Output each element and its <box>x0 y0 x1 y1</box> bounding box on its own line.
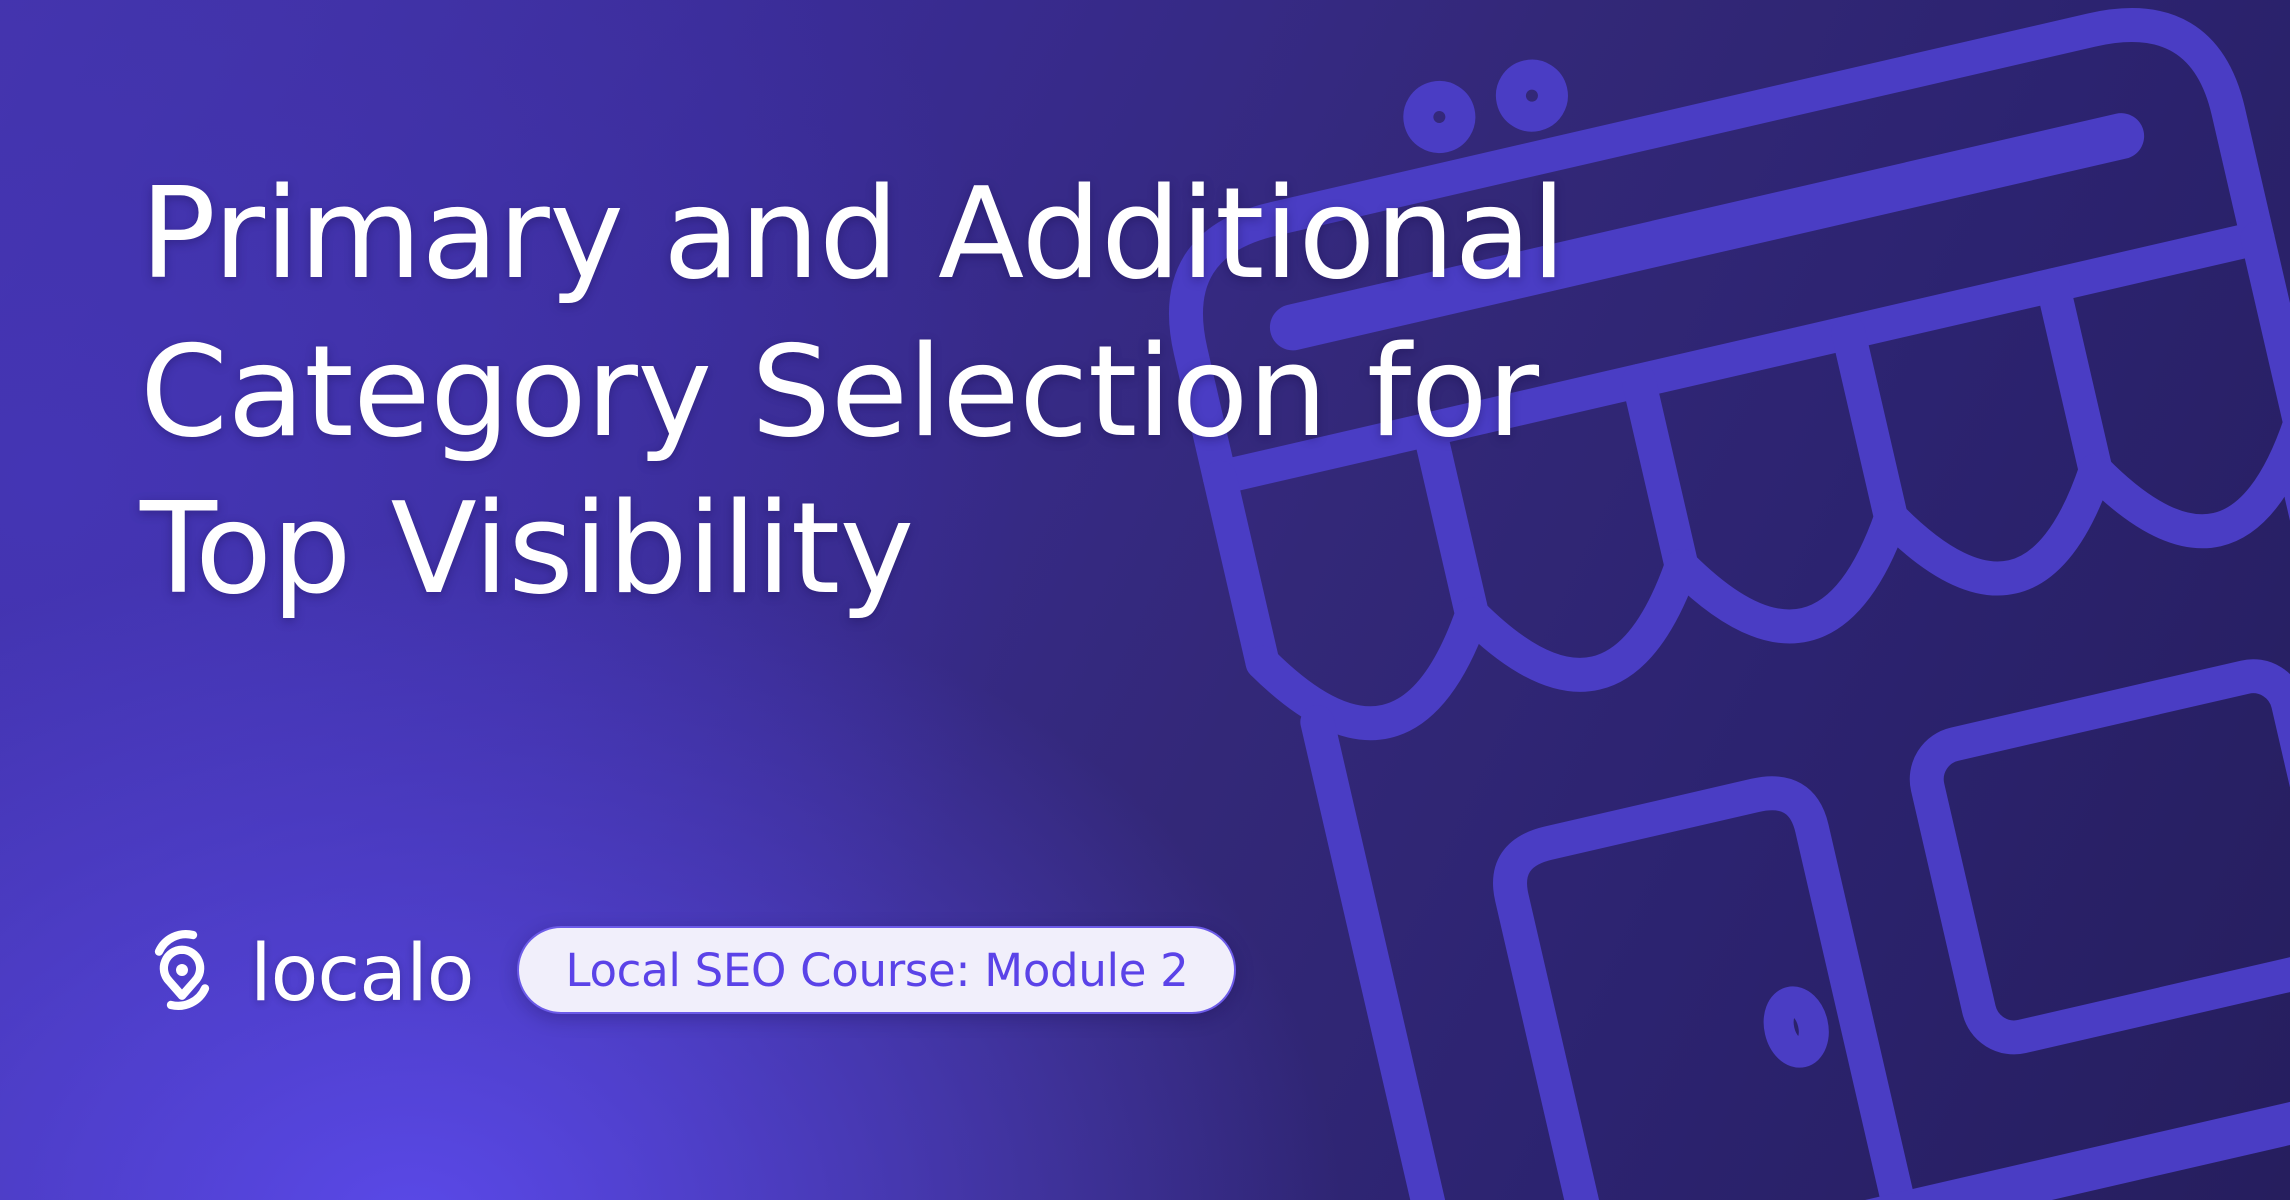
page-title: Primary and Additional Category Selectio… <box>140 155 1700 628</box>
title-line-1: Primary and Additional <box>140 155 1700 313</box>
brand-name: localo <box>250 935 473 1013</box>
title-line-2: Category Selection for <box>140 313 1700 471</box>
course-banner: Primary and Additional Category Selectio… <box>0 0 2290 1200</box>
location-pin-swirl-icon <box>136 924 228 1016</box>
course-module-badge[interactable]: Local SEO Course: Module 2 <box>517 926 1236 1014</box>
banner-footer: localo Local SEO Course: Module 2 <box>136 920 1236 1020</box>
brand-logo: localo <box>136 920 473 1020</box>
title-line-3: Top Visibility <box>140 470 1700 628</box>
